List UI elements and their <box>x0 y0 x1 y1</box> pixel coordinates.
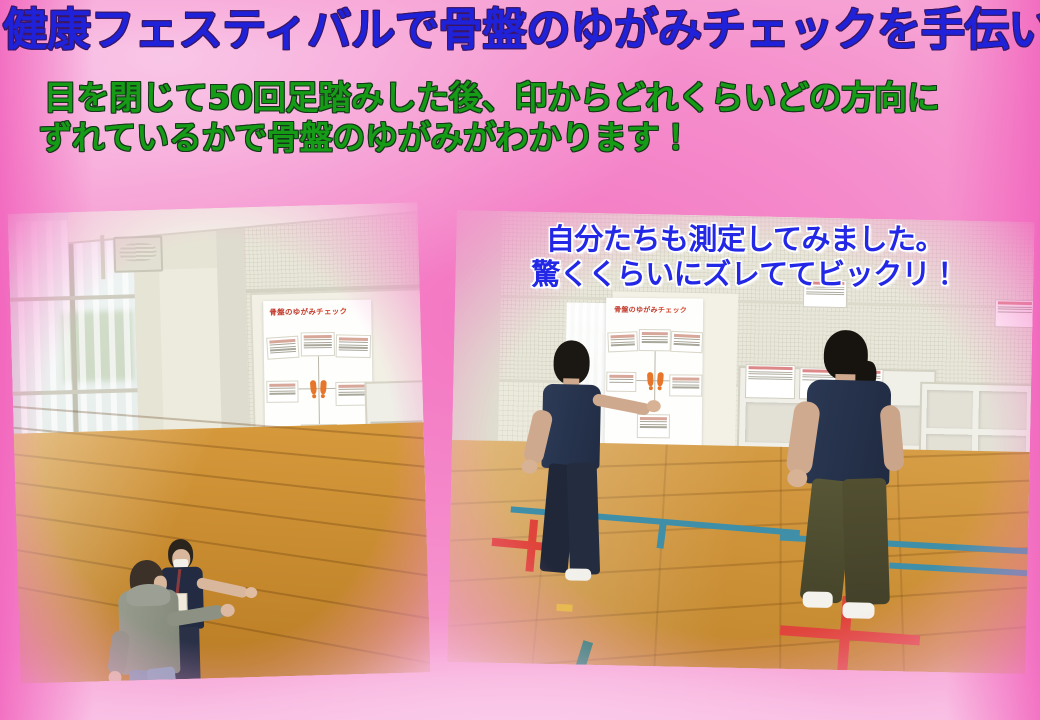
caption-line-1: 自分たちも測定してみました。 <box>495 222 995 257</box>
footprint-left-icon <box>310 380 317 394</box>
poster-note-left <box>266 380 298 402</box>
poster-r-note-r <box>669 374 702 396</box>
photo-right-caption: 自分たちも測定してみました。 驚くくらいにズレててビックリ！ <box>495 222 995 292</box>
staff-right-leg-right <box>842 478 890 605</box>
staff-left-leg-front <box>567 462 601 575</box>
staff-left-sock <box>565 568 591 581</box>
photo-left-staff-guiding-participant: 骨盤のゆがみチェック <box>8 202 431 683</box>
shelf-notice-left <box>745 364 796 399</box>
poster-stage: 骨盤のゆがみチェック <box>0 0 1040 720</box>
staff-left-hand-pointing <box>647 400 661 412</box>
footprint-left-icon-right-photo <box>647 372 654 386</box>
wall-notice-right-edge <box>994 299 1034 328</box>
photo-left-scene: 骨盤のゆがみチェック <box>8 202 431 683</box>
subtitle-line-1: 目を閉じて50回足踏みした後、印からどれくらいどの方向に <box>44 78 940 117</box>
subtitle-line-2: ずれているかで骨盤のゆがみがわかります！ <box>39 118 1034 158</box>
page-subtitle: 目を閉じて50回足踏みした後、印からどれくらいどの方向に ずれているかで骨盤のゆ… <box>44 78 1034 158</box>
poster-note-top-mid <box>301 332 335 356</box>
poster-note-top-right <box>336 334 371 358</box>
poster-r-note-tr <box>670 331 703 353</box>
poster-r-note-b <box>637 414 670 438</box>
poster-title-right: 骨盤のゆがみチェック <box>614 305 687 316</box>
yellow-tape-mark <box>556 604 572 612</box>
poster-r-note-tm <box>639 329 671 351</box>
footprint-right-icon <box>320 380 327 394</box>
pelvic-check-poster-right: 骨盤のゆがみチェック <box>605 298 704 449</box>
page-title: 健康フェスティバルで骨盤のゆがみチェックを手伝いました。 <box>3 5 1021 54</box>
poster-r-note-tl <box>607 331 638 352</box>
poster-r-note-l <box>606 372 636 392</box>
caption-line-2: 驚くくらいにズレててビックリ！ <box>495 257 995 292</box>
participant-hood <box>126 583 171 606</box>
staff-right-sock-left <box>803 591 833 608</box>
poster-title: 骨盤のゆがみチェック <box>269 306 347 318</box>
ac-grill-icon <box>119 243 156 262</box>
poster-note-top-left <box>266 336 299 360</box>
staff-right-sock-right <box>842 602 874 619</box>
staff-right-polo <box>805 379 891 485</box>
air-conditioner-unit <box>113 236 163 273</box>
footprint-right-icon-right-photo <box>657 372 664 386</box>
gym-wood-floor <box>14 422 431 683</box>
